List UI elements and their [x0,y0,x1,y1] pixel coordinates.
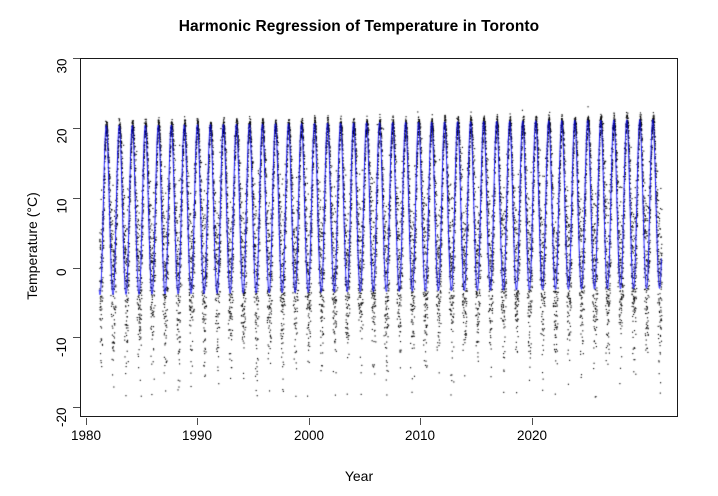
scatter-plot-canvas [81,59,677,416]
x-tick-label-2020: 2020 [502,428,562,443]
x-axis-label: Year [0,468,718,484]
y-tick-label-20: 20 [55,129,70,144]
x-tick-1990 [197,418,198,425]
chart-figure: Harmonic Regression of Temperature in To… [0,0,718,496]
y-tick-20 [73,128,80,129]
x-tick-2010 [420,418,421,425]
chart-title: Harmonic Regression of Temperature in To… [0,18,718,36]
x-tick-2020 [532,418,533,425]
y-tick-label-30: 30 [55,59,70,74]
y-tick--10 [73,337,80,338]
y-tick-30 [73,58,80,59]
y-tick-label--10: -10 [55,338,70,358]
x-tick-label-2010: 2010 [390,428,450,443]
x-tick-label-2000: 2000 [279,428,339,443]
y-axis-label: Temperature (°C) [24,146,40,346]
plot-area [80,58,678,417]
y-tick-label--20: -20 [55,408,70,428]
x-tick-label-1980: 1980 [56,428,116,443]
x-tick-2000 [309,418,310,425]
x-tick-1980 [86,418,87,425]
y-tick-label-0: 0 [55,269,70,277]
x-tick-label-1990: 1990 [167,428,227,443]
y-tick-0 [73,268,80,269]
y-tick--20 [73,407,80,408]
y-tick-label-10: 10 [55,199,70,214]
y-tick-10 [73,198,80,199]
